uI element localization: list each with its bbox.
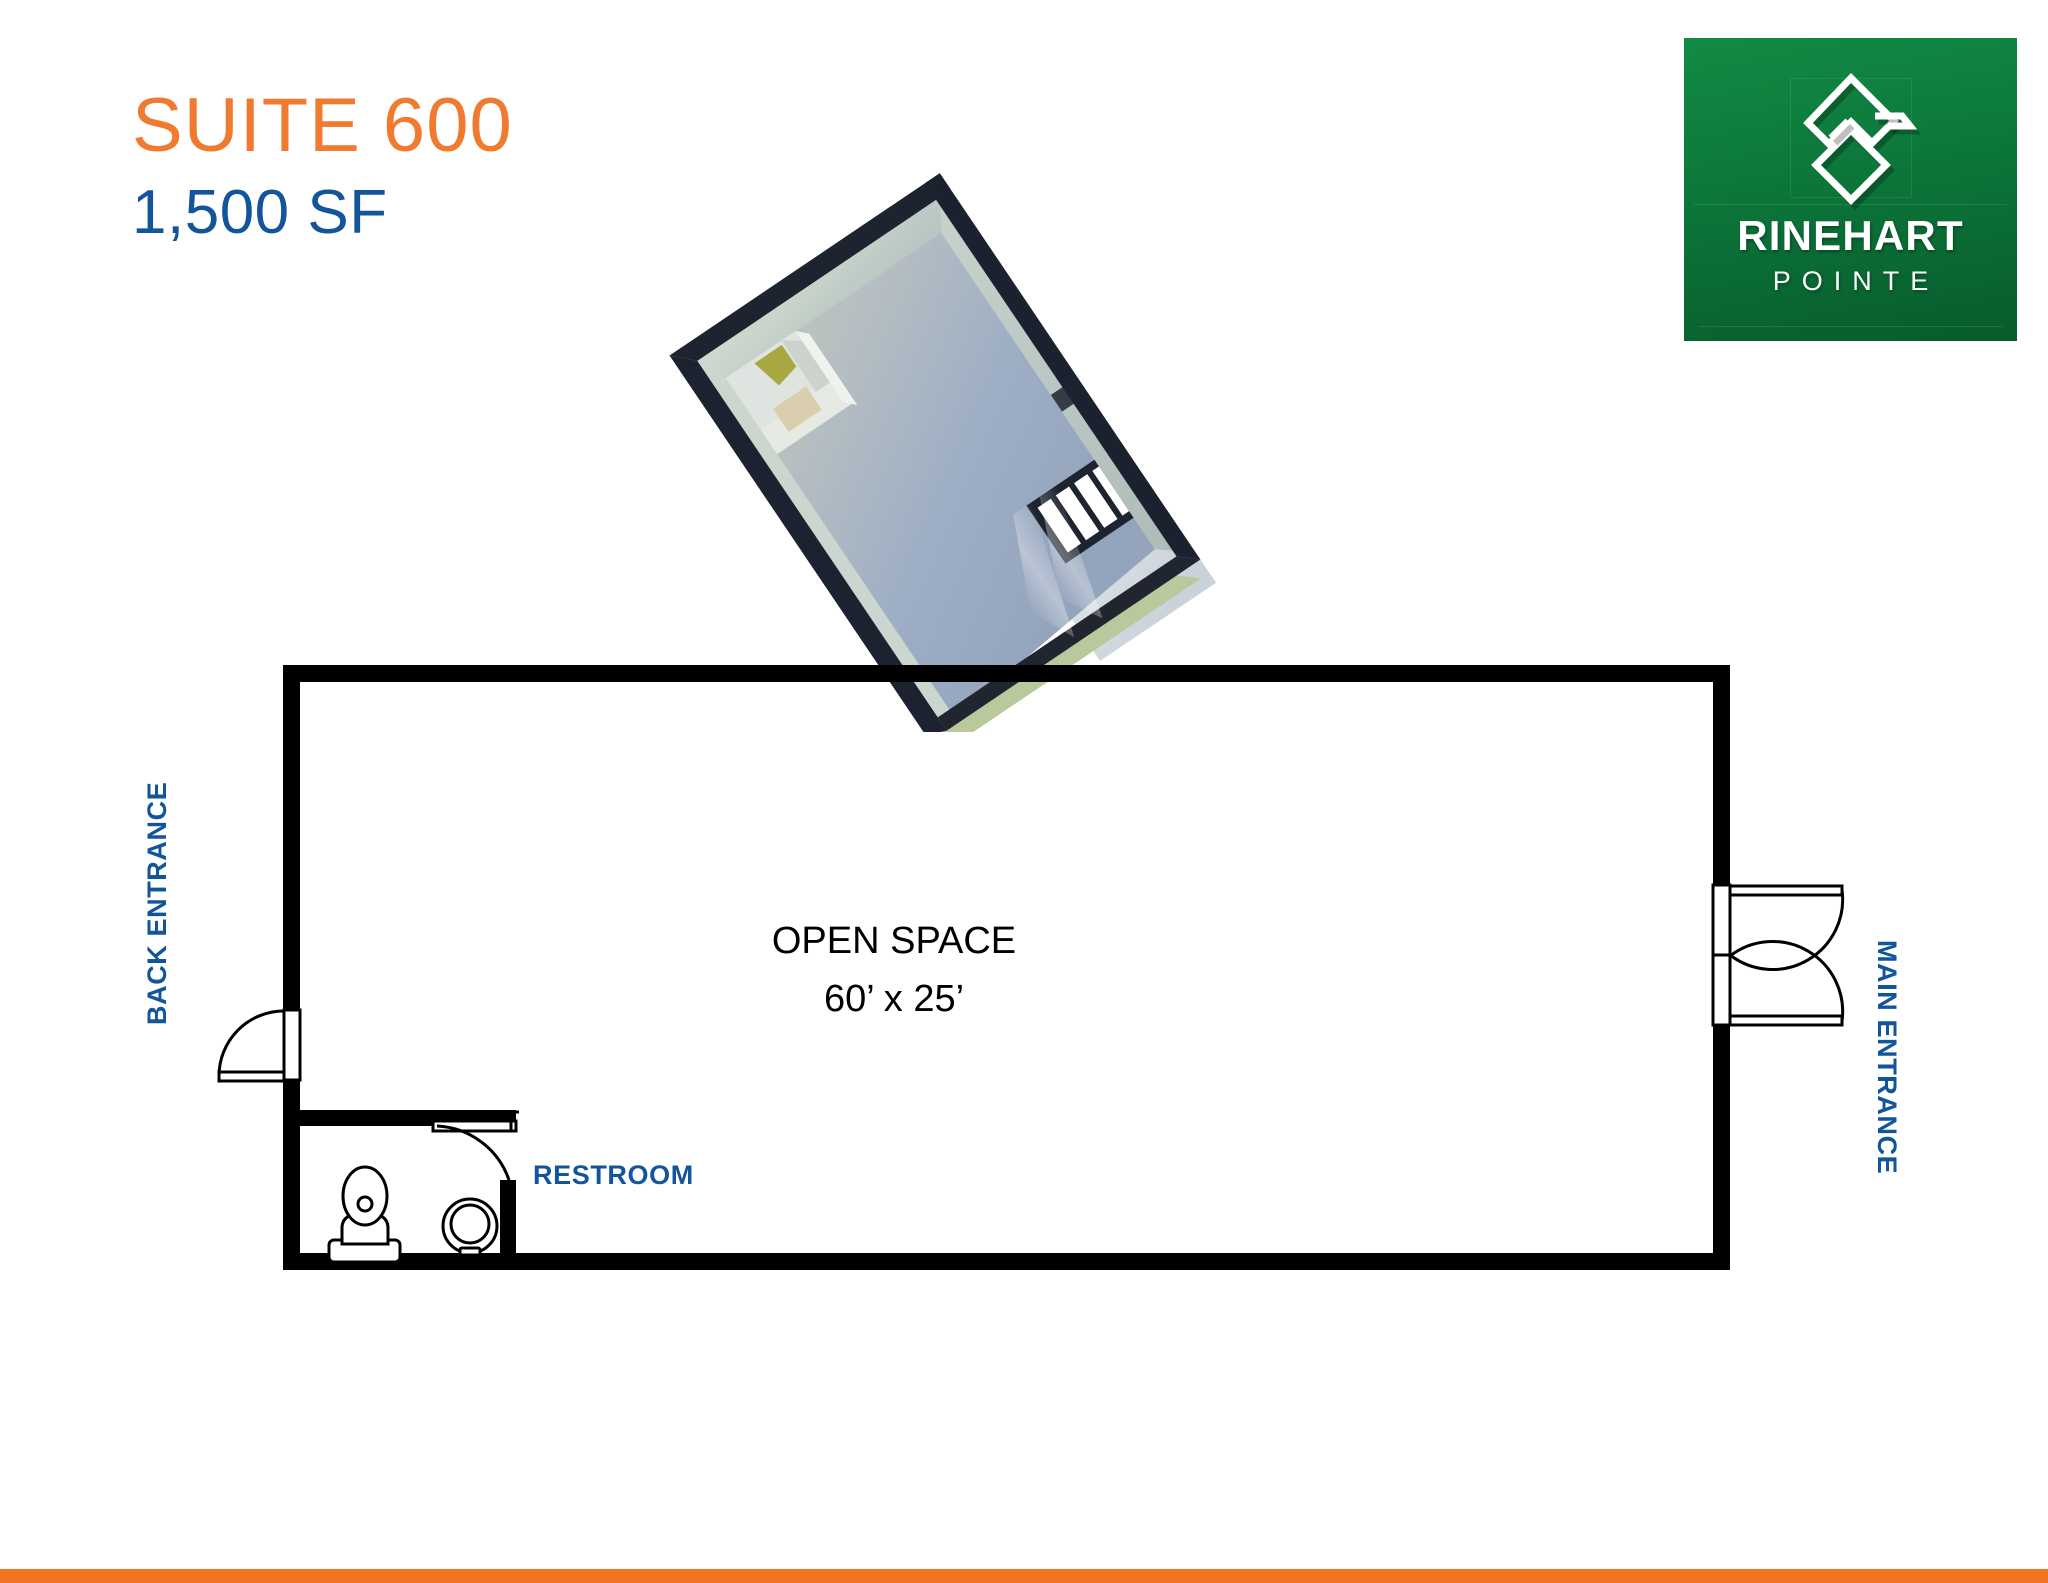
- open-space-dimensions: 60’ x 25’: [824, 978, 964, 1021]
- main-entrance-door: [1713, 885, 1843, 1025]
- plan-exterior-walls: [283, 665, 1730, 1270]
- plan-restroom-walls: [300, 1110, 516, 1270]
- bottom-accent-bar: [0, 1569, 2048, 1583]
- main-entrance-label: MAIN ENTRANCE: [1871, 940, 1902, 1174]
- logo-divider: [1694, 204, 2007, 205]
- back-entrance-door: [219, 1010, 300, 1081]
- title-block: SUITE 600 1,500 SF: [132, 88, 513, 244]
- sink-fixture: [443, 1199, 497, 1255]
- restroom-label: RESTROOM: [533, 1160, 694, 1191]
- back-entrance-label: BACK ENTRANCE: [142, 782, 173, 1025]
- logo-name: RINEHART: [1684, 212, 2017, 260]
- toilet-fixture: [329, 1167, 400, 1262]
- logo-subtitle: POINTE: [1684, 266, 2017, 297]
- suite-3d-render: [596, 62, 1296, 732]
- suite-area-text: 1,500 SF: [132, 182, 513, 244]
- restroom-door: [433, 1112, 519, 1180]
- rinehart-pointe-logo: RINEHART POINTE: [1684, 38, 2017, 341]
- page-title: SUITE 600: [132, 88, 513, 164]
- diamond-monogram-icon: [1776, 60, 1926, 215]
- open-space-label: OPEN SPACE: [772, 920, 1016, 963]
- logo-divider-bottom: [1698, 326, 2003, 327]
